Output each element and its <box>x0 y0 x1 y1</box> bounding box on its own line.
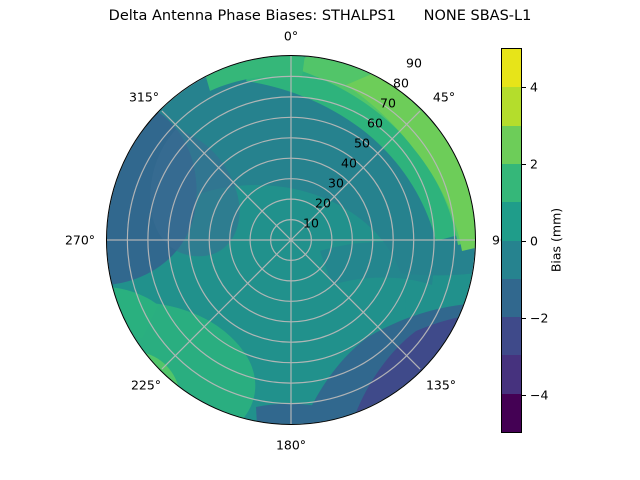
colorbar-band-4 <box>502 241 521 279</box>
page-title: Delta Antenna Phase Biases: STHALPS1 NON… <box>0 8 640 24</box>
colorbar-tick-mark-4 <box>522 87 526 88</box>
colorbar-axis-label: Bias (mm) <box>549 208 564 272</box>
colorbar-tick-mark-0 <box>522 395 526 396</box>
azimuth-tick-225: 225° <box>131 378 161 393</box>
radial-tick-10: 10 <box>303 216 319 231</box>
azimuth-tick-270: 270° <box>65 233 95 248</box>
polar-contour-surface <box>106 55 476 425</box>
radial-tick-70: 70 <box>380 96 396 111</box>
azimuth-tick-315: 315° <box>129 90 159 105</box>
radial-tick-90: 90 <box>406 56 422 71</box>
colorbar-band-5 <box>502 202 521 240</box>
colorbar-band-3 <box>502 279 521 317</box>
colorbar-tick-label-4: 4 <box>530 79 538 94</box>
colorbar-band-6 <box>502 164 521 202</box>
polar-contour-svg <box>106 55 476 425</box>
colorbar-tick-label-minus2: −2 <box>530 310 548 325</box>
radial-tick-50: 50 <box>354 136 370 151</box>
colorbar-band-0 <box>502 394 521 432</box>
figure-canvas: Delta Antenna Phase Biases: STHALPS1 NON… <box>0 0 640 480</box>
radial-tick-20: 20 <box>315 196 331 211</box>
radial-tick-30: 30 <box>328 176 344 191</box>
radial-tick-60: 60 <box>367 116 383 131</box>
polar-axes[interactable]: 10 20 30 40 50 60 70 80 90 0° 45° 90 135… <box>106 55 476 425</box>
colorbar-band-8 <box>502 87 521 125</box>
colorbar-tick-label-minus4: −4 <box>530 387 548 402</box>
colorbar-band-2 <box>502 317 521 355</box>
colorbar-tick-mark-3 <box>522 164 526 165</box>
colorbar-tick-mark-2 <box>522 241 526 242</box>
radial-tick-80: 80 <box>393 76 409 91</box>
colorbar-band-1 <box>502 355 521 393</box>
colorbar-tick-mark-1 <box>522 318 526 319</box>
colorbar-tick-label-2: 2 <box>530 156 538 171</box>
radial-tick-40: 40 <box>341 156 357 171</box>
colorbar-band-9 <box>502 49 521 87</box>
azimuth-tick-45: 45° <box>433 90 455 105</box>
polar-grid <box>107 56 475 424</box>
colorbar-axes[interactable]: −4 −2 0 2 4 <box>501 48 522 433</box>
azimuth-tick-135: 135° <box>426 378 456 393</box>
azimuth-tick-0: 0° <box>284 29 298 44</box>
azimuth-tick-180: 180° <box>276 438 306 453</box>
colorbar-gradient <box>501 48 522 433</box>
colorbar-band-7 <box>502 126 521 164</box>
colorbar-tick-label-zero: 0 <box>530 233 538 248</box>
